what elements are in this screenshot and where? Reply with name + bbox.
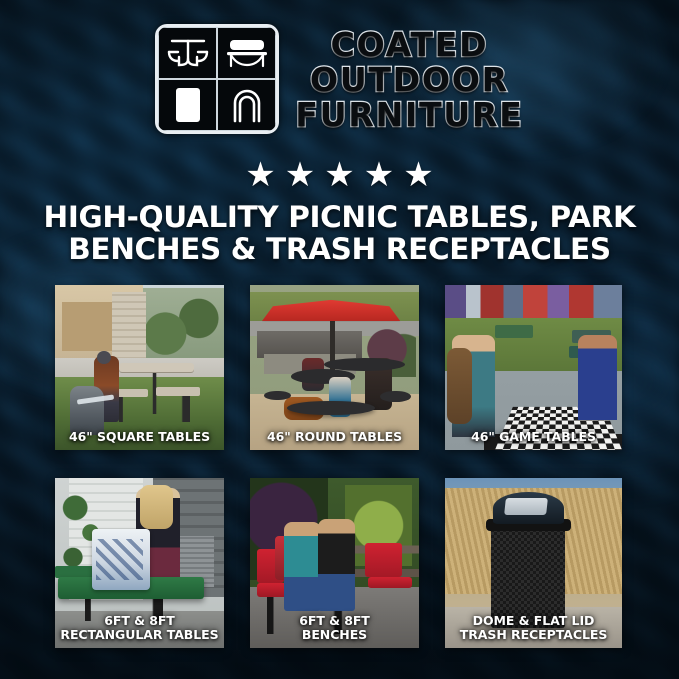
- product-label-line-1: 46" GAME TABLES: [471, 429, 596, 444]
- star-rating: ★ ★ ★ ★ ★: [0, 158, 679, 192]
- product-tile-trash-receptacles[interactable]: DOME & FLAT LID TRASH RECEPTACLES: [445, 478, 622, 648]
- product-photo-round-tables: [250, 285, 419, 450]
- product-tile-label: 46" SQUARE TABLES: [55, 430, 224, 444]
- banner-content: COATED OUTDOOR FURNITURE ★ ★ ★ ★ ★ HIGH-…: [0, 0, 679, 679]
- product-photo-game-tables: [445, 285, 622, 450]
- headline-line-1: HIGH-QUALITY PICNIC TABLES, PARK: [44, 200, 636, 234]
- product-photo-square-tables: [55, 285, 224, 450]
- wordmark-line-outdoor: OUTDOOR: [310, 63, 509, 97]
- star-icon: ★: [403, 158, 433, 192]
- product-label-line-1: 46" ROUND TABLES: [267, 429, 402, 444]
- wordmark-line-furniture: FURNITURE: [295, 98, 523, 132]
- bike-rack-icon: [217, 79, 276, 131]
- product-grid: 46" SQUARE TABLES 46" ROUND TABLES: [55, 285, 625, 648]
- product-tile-label: 46" ROUND TABLES: [250, 430, 419, 444]
- trash-receptacle-icon: [158, 79, 217, 131]
- product-label-line-2: TRASH RECEPTACLES: [448, 628, 619, 642]
- product-tile-round-tables[interactable]: 46" ROUND TABLES: [250, 285, 419, 450]
- wordmark-line-coated: COATED: [331, 28, 489, 62]
- product-tile-game-tables[interactable]: 46" GAME TABLES: [445, 285, 622, 450]
- star-icon: ★: [364, 158, 394, 192]
- product-label-line-2: RECTANGULAR TABLES: [58, 628, 221, 642]
- logo-mark: [155, 24, 279, 134]
- star-icon: ★: [324, 158, 354, 192]
- promotional-banner: COATED OUTDOOR FURNITURE ★ ★ ★ ★ ★ HIGH-…: [0, 0, 679, 679]
- product-tile-label: DOME & FLAT LID TRASH RECEPTACLES: [445, 614, 622, 642]
- product-tile-label: 6FT & 8FT RECTANGULAR TABLES: [55, 614, 224, 642]
- brand-logo-lockup: COATED OUTDOOR FURNITURE: [0, 24, 679, 134]
- product-tile-rectangular-tables[interactable]: 6FT & 8FT RECTANGULAR TABLES: [55, 478, 224, 648]
- product-label-line-1: 46" SQUARE TABLES: [69, 429, 210, 444]
- product-label-line-1: 6FT & 8FT: [299, 613, 370, 628]
- star-icon: ★: [245, 158, 275, 192]
- headline-line-2: BENCHES & TRASH RECEPTACLES: [20, 234, 659, 266]
- product-label-line-1: DOME & FLAT LID: [473, 613, 595, 628]
- product-tile-square-tables[interactable]: 46" SQUARE TABLES: [55, 285, 224, 450]
- brand-wordmark: COATED OUTDOOR FURNITURE: [295, 26, 523, 133]
- product-tile-label: 46" GAME TABLES: [445, 430, 622, 444]
- product-tile-label: 6FT & 8FT BENCHES: [250, 614, 419, 642]
- product-label-line-1: 6FT & 8FT: [104, 613, 175, 628]
- headline: HIGH-QUALITY PICNIC TABLES, PARK BENCHES…: [20, 202, 659, 266]
- product-label-line-2: BENCHES: [253, 628, 416, 642]
- star-icon: ★: [285, 158, 315, 192]
- product-tile-benches[interactable]: 6FT & 8FT BENCHES: [250, 478, 419, 648]
- picnic-table-icon: [158, 27, 217, 79]
- bench-icon: [217, 27, 276, 79]
